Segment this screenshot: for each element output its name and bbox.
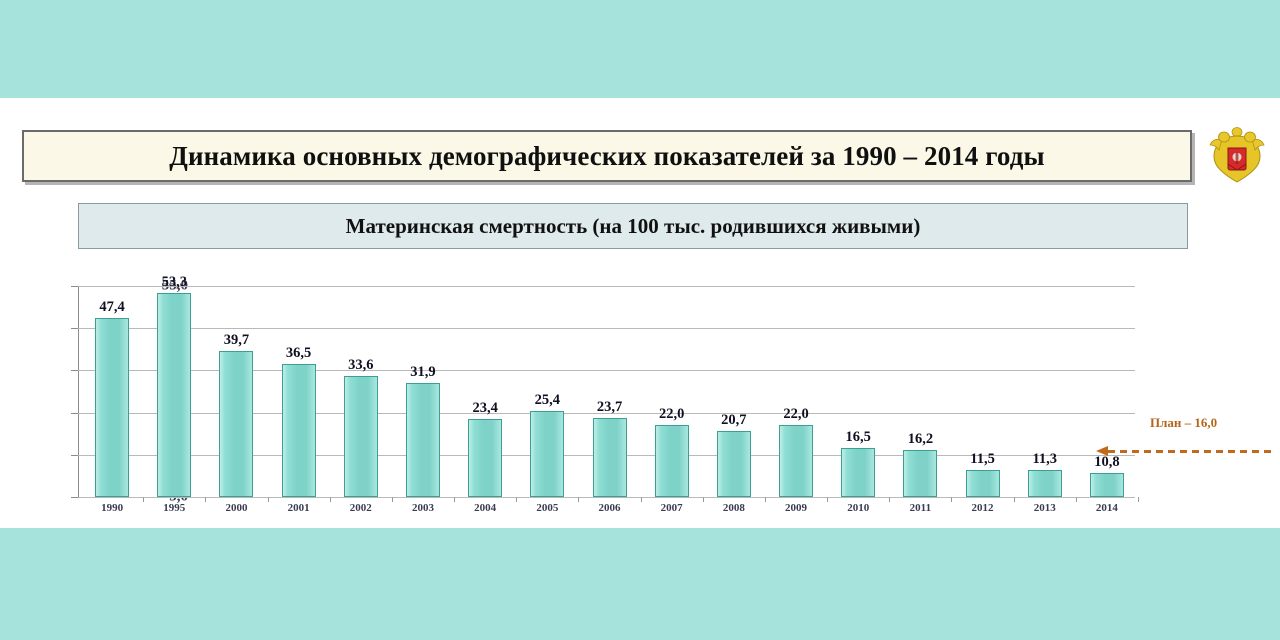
bar-value-label: 22,0: [659, 406, 684, 423]
x-axis-label-2004: 2004: [474, 502, 496, 514]
x-axis-tick: [268, 497, 269, 502]
plot-area: 47,453,339,736,533,631,923,425,423,722,0…: [78, 286, 1135, 497]
bar-2005: [530, 411, 564, 497]
bar-2002: [344, 376, 378, 497]
x-axis-label-2005: 2005: [536, 502, 558, 514]
bar-2001: [282, 364, 316, 497]
decorative-band-bottom: [0, 528, 1280, 640]
bar-2010: [841, 448, 875, 497]
bar-2003: [406, 383, 440, 497]
plan-target-arrow-icon: [1096, 446, 1276, 456]
russian-coat-of-arms-icon: [1208, 124, 1266, 186]
bar-2006: [593, 418, 627, 497]
chart-subtitle: Материнская смертность (на 100 тыс. роди…: [346, 214, 921, 239]
bar-2000: [219, 351, 253, 497]
bar-value-label: 25,4: [535, 392, 560, 409]
bar-value-label: 22,0: [783, 406, 808, 423]
y-axis-line: [78, 286, 79, 497]
x-axis-tick: [641, 497, 642, 502]
decorative-band-top: [0, 0, 1280, 98]
x-axis-label-1995: 1995: [163, 502, 185, 514]
x-axis-tick: [392, 497, 393, 502]
y-axis-tick: [71, 328, 78, 329]
chart-subtitle-box: Материнская смертность (на 100 тыс. роди…: [78, 203, 1188, 249]
bar-1995: [157, 293, 191, 497]
x-axis-label-2012: 2012: [972, 502, 994, 514]
x-axis-tick: [827, 497, 828, 502]
bar-value-label: 11,3: [1032, 451, 1057, 468]
bar-value-label: 10,8: [1094, 454, 1119, 471]
x-axis-label-2006: 2006: [599, 502, 621, 514]
x-axis-tick: [1076, 497, 1077, 502]
bar-value-label: 23,7: [597, 399, 622, 416]
bar-2014: [1090, 473, 1124, 497]
x-axis-label-2001: 2001: [288, 502, 310, 514]
x-axis-label-2011: 2011: [910, 502, 931, 514]
x-axis-label-2000: 2000: [225, 502, 247, 514]
bar-2008: [717, 431, 751, 497]
x-axis-label-2002: 2002: [350, 502, 372, 514]
x-axis-label-2007: 2007: [661, 502, 683, 514]
x-axis-label-2013: 2013: [1034, 502, 1056, 514]
y-axis-tick: [71, 370, 78, 371]
bar-1990: [95, 318, 129, 497]
x-axis-tick: [1138, 497, 1139, 502]
bar-value-label: 23,4: [472, 400, 497, 417]
bar-value-label: 53,3: [162, 274, 187, 291]
y-axis-tick: [71, 455, 78, 456]
bar-value-label: 36,5: [286, 345, 311, 362]
bar-value-label: 39,7: [224, 332, 249, 349]
x-axis-tick: [703, 497, 704, 502]
y-axis-tick: [71, 497, 78, 498]
x-axis-label-2003: 2003: [412, 502, 434, 514]
gridline: [78, 286, 1135, 287]
gridline: [78, 328, 1135, 329]
x-axis-tick: [578, 497, 579, 502]
bar-2004: [468, 419, 502, 497]
bar-value-label: 16,2: [908, 431, 933, 448]
slide-title-box: Динамика основных демографических показа…: [22, 130, 1192, 182]
x-axis-label-2010: 2010: [847, 502, 869, 514]
x-axis-label-2008: 2008: [723, 502, 745, 514]
x-axis-label-2009: 2009: [785, 502, 807, 514]
bar-2011: [903, 450, 937, 497]
bar-2013: [1028, 470, 1062, 497]
x-axis-tick: [889, 497, 890, 502]
x-axis-tick: [205, 497, 206, 502]
x-axis-tick: [1014, 497, 1015, 502]
bar-value-label: 16,5: [846, 429, 871, 446]
maternal-mortality-bar-chart: 55,045,035,025,015,05,0 47,453,339,736,5…: [0, 258, 1280, 528]
x-axis-tick: [516, 497, 517, 502]
bar-value-label: 33,6: [348, 357, 373, 374]
bar-2012: [966, 470, 1000, 497]
y-axis-tick: [71, 413, 78, 414]
bar-value-label: 31,9: [410, 364, 435, 381]
bar-2009: [779, 425, 813, 497]
bar-value-label: 11,5: [970, 451, 995, 468]
y-axis-tick: [71, 286, 78, 287]
plan-annotation-label: План – 16,0: [1150, 415, 1217, 431]
x-axis-tick: [765, 497, 766, 502]
x-axis-tick: [143, 497, 144, 502]
x-axis-label-2014: 2014: [1096, 502, 1118, 514]
bar-value-label: 20,7: [721, 412, 746, 429]
x-axis-tick: [951, 497, 952, 502]
x-axis-tick: [330, 497, 331, 502]
x-axis-tick: [454, 497, 455, 502]
bar-value-label: 47,4: [99, 299, 124, 316]
x-axis-label-1990: 1990: [101, 502, 123, 514]
page-title: Динамика основных демографических показа…: [169, 141, 1044, 172]
bar-2007: [655, 425, 689, 497]
gridline: [78, 497, 1135, 498]
